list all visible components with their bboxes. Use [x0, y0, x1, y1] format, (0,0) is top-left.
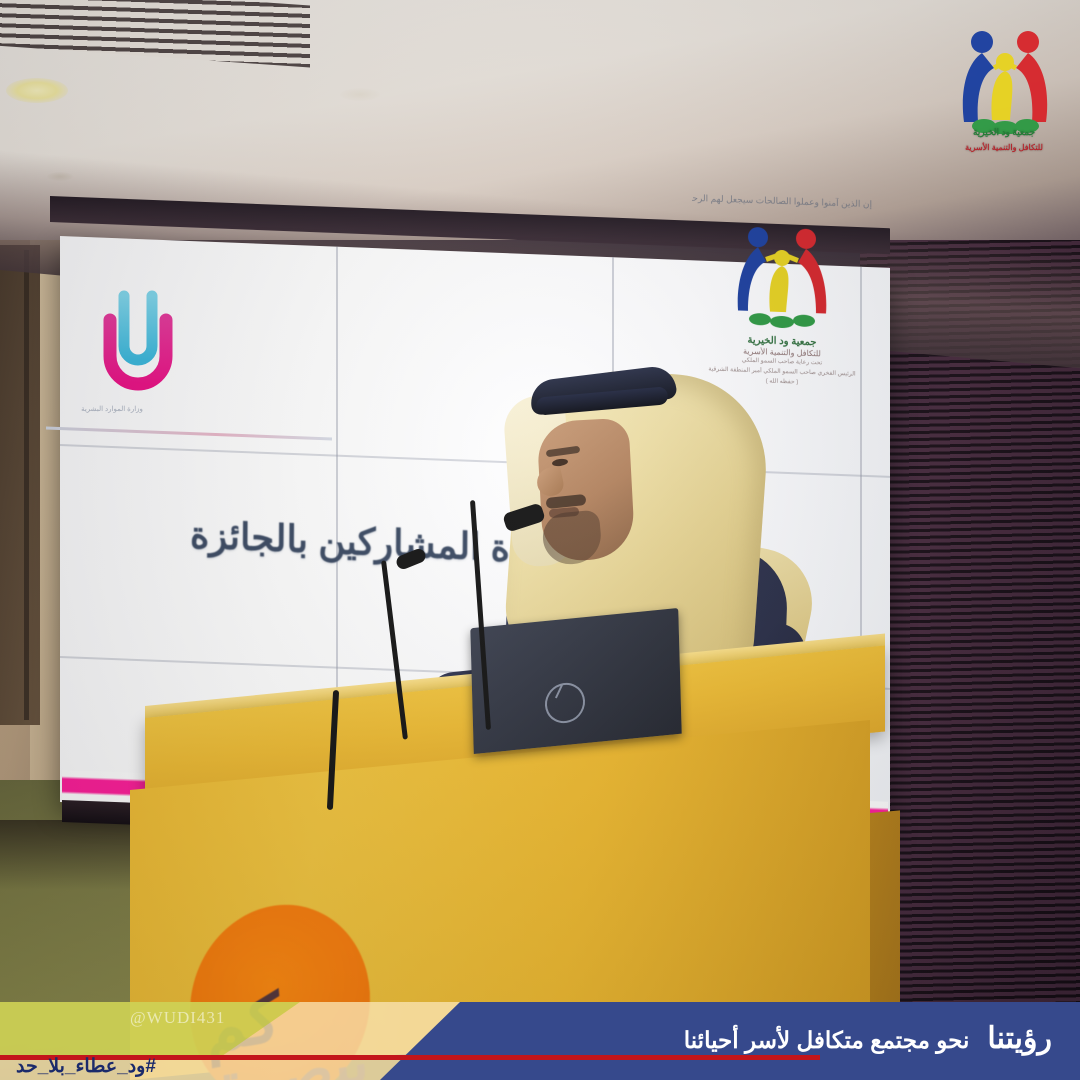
corner-association-logo: جمعية ود الخيرية للتكافل والتنمية الأسري… [942, 22, 1066, 162]
ceiling-downlight [6, 78, 68, 103]
door-frame [0, 245, 40, 725]
u-logo-caption: وزارة الموارد البشرية [52, 405, 172, 415]
vision-statement: رؤيتنا نحو مجتمع متكافل لأسر أحيائنا [684, 1021, 1052, 1056]
slide-association-logo: إن الذين آمنوا وعملوا الصالحات سيجعل لهم… [692, 193, 872, 389]
door-edge [24, 250, 29, 720]
vision-text: نحو مجتمع متكافل لأسر أحيائنا [684, 1027, 970, 1054]
screenshot-root: وزارة الموارد البشرية إن الذين آمنوا وعم… [0, 0, 1080, 1080]
ceiling-downlight [340, 88, 380, 101]
corner-logo-tagline: للتكافل والتنمية الأسرية [942, 143, 1066, 152]
bottom-brand-bar: رؤيتنا نحو مجتمع متكافل لأسر أحيائنا @WU… [0, 980, 1080, 1080]
u-shaped-brand-logo [96, 290, 180, 402]
ceiling-vent [0, 0, 310, 68]
handle-watermark: @WUDI431 [130, 1008, 225, 1028]
conference-room-scene: وزارة الموارد البشرية إن الذين آمنوا وعم… [0, 0, 1080, 1080]
corner-logo-name: جمعية ود الخيرية [942, 127, 1066, 138]
vision-label: رؤيتنا [987, 1021, 1052, 1056]
dell-laptop [470, 608, 681, 754]
campaign-hashtag: #ود_عطاء_بلا_حد [16, 1055, 156, 1078]
